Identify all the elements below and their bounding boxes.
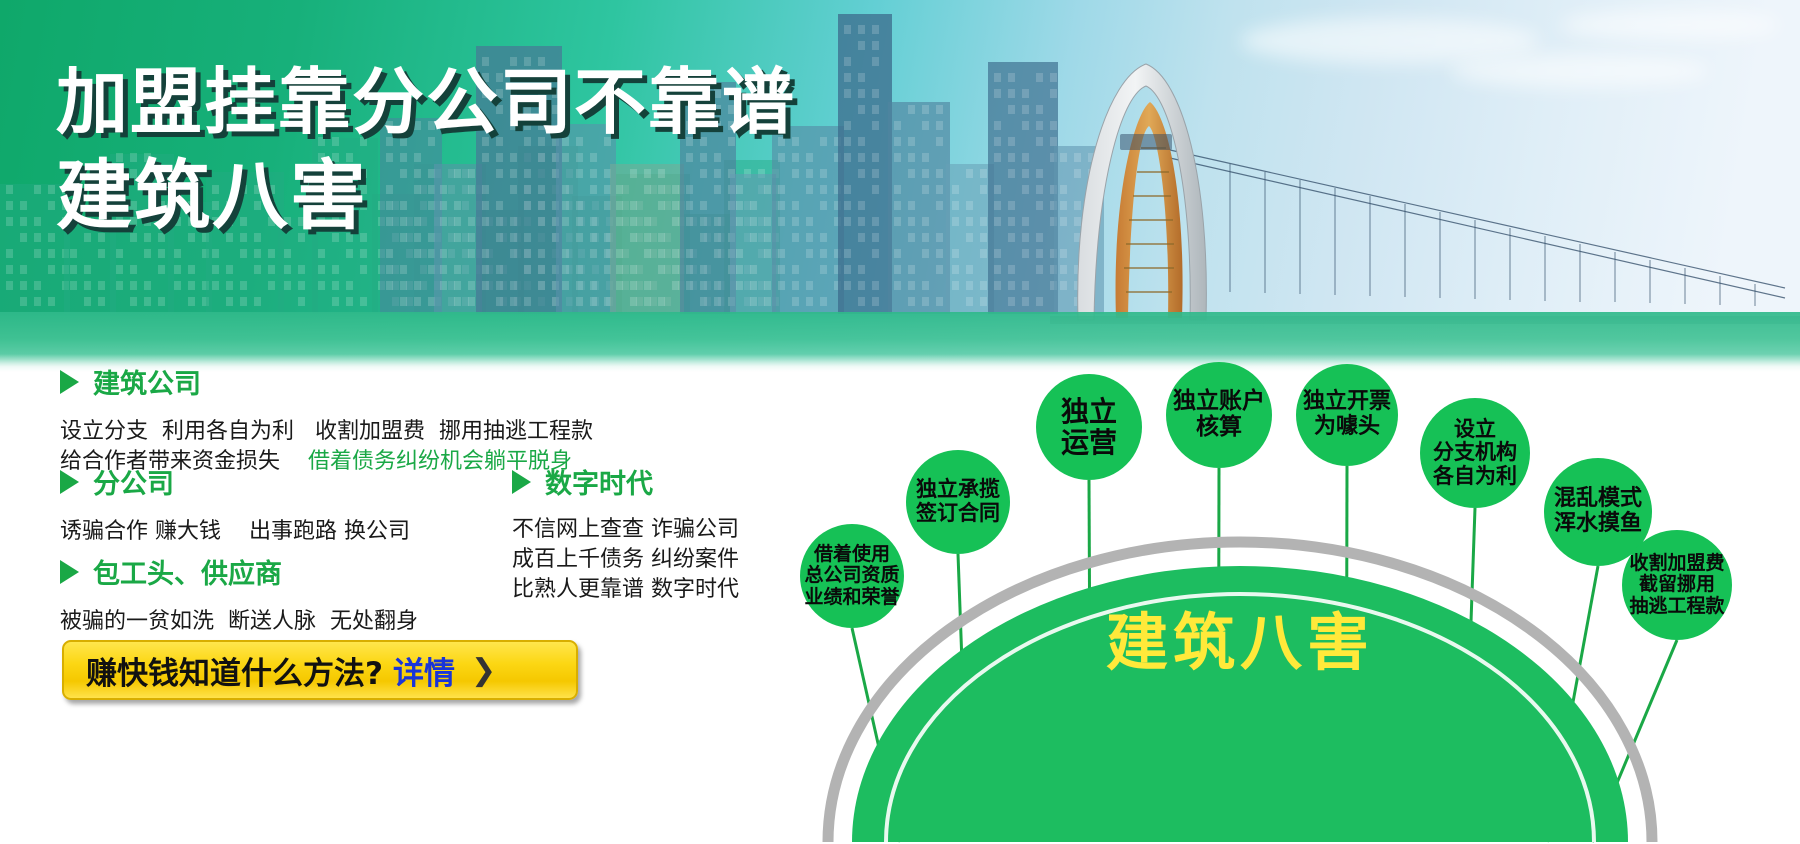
window [144,297,151,306]
window [482,249,489,258]
window [332,281,339,290]
bridge-illustration [1050,30,1800,360]
window [872,297,879,306]
window [994,265,1001,274]
window [34,249,41,258]
bubble-text: 混乱模式浑水摸鱼 [1554,487,1642,536]
cta-link-label[interactable]: 详情 [393,648,455,693]
window [1022,217,1029,226]
window [778,249,785,258]
window [1008,281,1015,290]
window [858,297,865,306]
bubble-text: 借着使用总公司资质业绩和荣誉 [804,544,899,608]
window [894,137,901,146]
window [936,249,943,258]
window [130,297,137,306]
body-text: 成百上千债务 纠纷案件 [512,547,739,572]
window [34,233,41,242]
window [254,249,261,258]
window [908,217,915,226]
window [70,265,77,274]
window [994,73,1001,82]
window [6,185,13,194]
building-silhouette [838,14,892,314]
section-title: 建筑公司 [93,362,201,401]
triangle-bullet-icon [512,470,531,494]
window [454,265,461,274]
window [820,137,827,146]
window [440,249,447,258]
window [872,249,879,258]
window [562,249,569,258]
window [158,249,165,258]
window [908,297,915,306]
window [20,233,27,242]
window [858,153,865,162]
window [844,89,851,98]
window [844,57,851,66]
window [174,281,181,290]
window [908,169,915,178]
window [538,281,545,290]
window [538,265,545,274]
window [1008,297,1015,306]
bubble-diagram: 建筑八害 借着使用总公司资质业绩和荣誉独立承揽签订合同独立运营独立账户核算独立开… [800,372,1800,844]
window [188,281,195,290]
window [980,233,987,242]
window [254,265,261,274]
window [658,297,665,306]
window [524,249,531,258]
triangle-bullet-icon [60,560,79,584]
window [844,121,851,130]
window [686,265,693,274]
window [1008,201,1015,210]
bubble-text: 独立账户核算 [1173,389,1265,441]
bubble-text: 独立开票为噱头 [1303,390,1391,439]
window [496,297,503,306]
body-text: 诱骗合作 赚大钱 出事跑路 换公司 [60,519,410,544]
window [858,265,865,274]
window [894,249,901,258]
window [20,217,27,226]
window [400,265,407,274]
window [188,265,195,274]
window [48,201,55,210]
window [298,281,305,290]
window [792,297,799,306]
window [750,265,757,274]
window [616,281,623,290]
window [174,249,181,258]
window [34,281,41,290]
window [966,169,973,178]
window [936,105,943,114]
window [130,265,137,274]
section-construction-company: 建筑公司 设立分支 利用各自为利 收割加盟费 挪用抽逃工程款 给合作者带来资金损… [60,362,593,477]
bubble-b2: 独立承揽签订合同 [906,450,1010,554]
window [48,185,55,194]
window [240,297,247,306]
hero-title-line1: 加盟挂靠分公司不靠谱 [56,60,796,144]
building-silhouette [946,164,994,314]
window [872,169,879,178]
window [806,153,813,162]
window [700,297,707,306]
body-line: 设立分支 利用各自为利 收割加盟费 挪用抽逃工程款 [60,417,593,447]
window [332,265,339,274]
section-branch-company: 分公司 诱骗合作 赚大钱 出事跑路 换公司 [60,462,410,547]
window [764,249,771,258]
window [994,217,1001,226]
bubble-text: 设立分支机构各自为利 [1433,418,1517,489]
body-line: 不信网上查查 诈骗公司 [512,515,739,545]
window [894,265,901,274]
window [346,281,353,290]
window [562,281,569,290]
window [1022,121,1029,130]
window [482,281,489,290]
window [872,89,879,98]
window [750,297,757,306]
window [844,217,851,226]
window [98,281,105,290]
window [414,281,421,290]
window [360,249,367,258]
window [226,297,233,306]
window [1036,297,1043,306]
window [778,281,785,290]
window [1008,265,1015,274]
window [872,105,879,114]
window [84,297,91,306]
window [792,265,799,274]
window [778,265,785,274]
left-content-column: 建筑公司 设立分支 利用各自为利 收割加盟费 挪用抽逃工程款 给合作者带来资金损… [0,372,800,844]
window [538,249,545,258]
window [966,217,973,226]
window [144,249,151,258]
section-contractor-supplier: 包工头、供应商 被骗的一贫如洗 断送人脉 无处翻身 [60,552,418,637]
window [994,201,1001,210]
window [1036,73,1043,82]
window [616,249,623,258]
window [980,185,987,194]
window [658,249,665,258]
window [894,185,901,194]
window [1008,137,1015,146]
window [820,249,827,258]
window [1022,281,1029,290]
window [616,265,623,274]
window [468,281,475,290]
window [922,169,929,178]
window [820,201,827,210]
window [1036,105,1043,114]
window [454,281,461,290]
window [966,265,973,274]
window [496,265,503,274]
window [510,297,517,306]
window [590,249,597,258]
window [20,281,27,290]
window [980,281,987,290]
window [922,121,929,130]
window [346,297,353,306]
window [700,265,707,274]
window [400,281,407,290]
window [872,41,879,50]
window [922,281,929,290]
window [922,233,929,242]
window [872,217,879,226]
window [590,281,597,290]
window [966,201,973,210]
window [980,169,987,178]
window [922,249,929,258]
window [908,137,915,146]
window [858,137,865,146]
window [84,265,91,274]
window [806,233,813,242]
window [820,297,827,306]
window [994,281,1001,290]
window [346,249,353,258]
window [360,297,367,306]
window [212,265,219,274]
cta-main-label: 赚快钱知道什么方法? [86,648,383,693]
section-heading: 分公司 [60,462,410,501]
window [48,265,55,274]
triangle-bullet-icon [60,370,79,394]
window [440,281,447,290]
window [590,297,597,306]
bubble-text: 独立承揽签订合同 [916,478,1000,525]
window [872,185,879,194]
window [6,265,13,274]
window [1036,169,1043,178]
window [844,281,851,290]
window [1036,201,1043,210]
window [212,281,219,290]
window [894,121,901,130]
hero-title-group: 加盟挂靠分公司不靠谱 建筑八害 [56,60,796,242]
window [806,169,813,178]
window [872,233,879,242]
window [966,281,973,290]
window [994,185,1001,194]
window [386,265,393,274]
window [672,265,679,274]
dome-label: 建筑八害 [950,592,1530,682]
window [48,249,55,258]
window [70,249,77,258]
window [872,57,879,66]
window [1022,89,1029,98]
window [298,265,305,274]
window [268,265,275,274]
window [20,201,27,210]
window [496,281,503,290]
window [226,281,233,290]
window [844,265,851,274]
section-title: 分公司 [93,462,174,501]
window [806,297,813,306]
window [908,153,915,162]
window [562,265,569,274]
window [844,185,851,194]
window [84,281,91,290]
window [1008,217,1015,226]
window [240,249,247,258]
window [714,297,721,306]
window [1022,105,1029,114]
window [952,185,959,194]
window [1008,153,1015,162]
window [736,249,743,258]
window [630,281,637,290]
section-heading: 建筑公司 [60,362,593,401]
window [468,249,475,258]
window [872,153,879,162]
window [792,281,799,290]
window [1036,233,1043,242]
section-body: 不信网上查查 诈骗公司 成百上千债务 纠纷案件 比熟人更靠谱 数字时代 [512,515,739,605]
window [844,25,851,34]
window [34,217,41,226]
body-line: 诱骗合作 赚大钱 出事跑路 换公司 [60,517,410,547]
window [284,281,291,290]
window [936,297,943,306]
window [576,265,583,274]
window [130,281,137,290]
window [764,281,771,290]
chevron-right-icon: ❯ [471,653,496,688]
window [858,233,865,242]
window [806,185,813,194]
building-silhouette [888,102,950,314]
window [714,281,721,290]
window [174,265,181,274]
window [644,281,651,290]
section-heading: 数字时代 [512,462,739,501]
window [318,249,325,258]
window [894,153,901,162]
window [820,169,827,178]
window [966,233,973,242]
window [482,265,489,274]
window [894,281,901,290]
body-text: 设立分支 利用各自为利 收割加盟费 挪用抽逃工程款 [60,419,593,444]
window [922,105,929,114]
window [806,217,813,226]
window [386,281,393,290]
window [284,249,291,258]
window [872,25,879,34]
window [966,297,973,306]
window [806,281,813,290]
window [806,249,813,258]
window [994,137,1001,146]
window [922,185,929,194]
window [894,217,901,226]
section-title: 包工头、供应商 [93,552,282,591]
building-silhouette [988,62,1058,314]
window [672,281,679,290]
window [936,265,943,274]
window [1036,185,1043,194]
window [952,281,959,290]
window [952,201,959,210]
window [1022,297,1029,306]
window [844,137,851,146]
window [686,249,693,258]
window [820,233,827,242]
window [980,249,987,258]
bubble-b6: 设立分支机构各自为利 [1420,398,1530,508]
window [872,281,879,290]
window [908,105,915,114]
window [158,297,165,306]
section-body: 被骗的一贫如洗 断送人脉 无处翻身 [60,607,418,637]
body-text: 比熟人更靠谱 数字时代 [512,577,739,602]
window [332,297,339,306]
window [414,249,421,258]
window [994,121,1001,130]
window [700,281,707,290]
window [212,249,219,258]
window [952,249,959,258]
window [98,249,105,258]
window [630,265,637,274]
window [1022,185,1029,194]
window [360,265,367,274]
window [1008,233,1015,242]
window [510,249,517,258]
bubble-b1: 借着使用总公司资质业绩和荣誉 [800,524,904,628]
window [1022,169,1029,178]
window [116,281,123,290]
window [936,185,943,194]
window [116,249,123,258]
window [858,217,865,226]
window [820,185,827,194]
window [844,153,851,162]
window [908,281,915,290]
body-text: 不信网上查查 诈骗公司 [512,517,739,542]
window [936,233,943,242]
cta-button[interactable]: 赚快钱知道什么方法? 详情 ❯ [62,640,578,700]
window [908,201,915,210]
window [284,265,291,274]
window [48,233,55,242]
window [240,281,247,290]
window [858,105,865,114]
window [48,297,55,306]
window [936,201,943,210]
window [994,153,1001,162]
window [844,73,851,82]
window [268,281,275,290]
window [858,201,865,210]
body-text: 被骗的一贫如洗 断送人脉 无处翻身 [60,609,418,634]
section-heading: 包工头、供应商 [60,552,418,591]
window [6,249,13,258]
window [468,297,475,306]
triangle-bullet-icon [60,470,79,494]
window [936,121,943,130]
window [736,265,743,274]
